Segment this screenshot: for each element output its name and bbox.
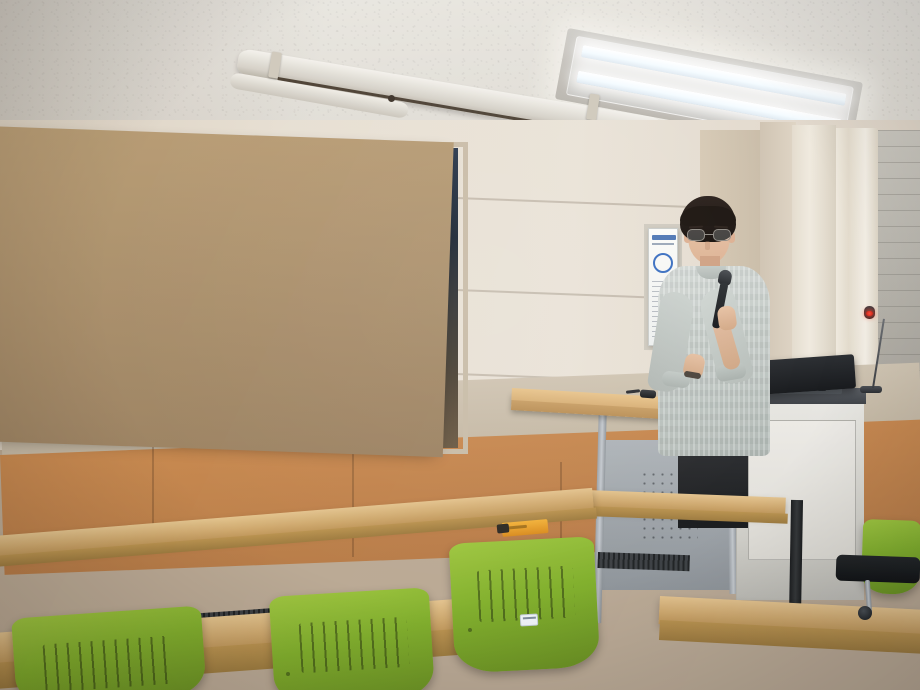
chair-1-vent-slots (42, 636, 175, 690)
glasses-lens-left (687, 229, 705, 241)
presenter (656, 196, 776, 526)
glasses-lens-right (713, 229, 731, 241)
chair-4-seat[interactable] (836, 555, 920, 584)
rail-knob-1 (388, 95, 395, 102)
presenter-hair-fringe (680, 206, 736, 226)
desk-right-leg (789, 500, 803, 618)
car-key-fob (640, 389, 657, 398)
glasses-icon (686, 229, 733, 241)
wood-panel-seam-2 (352, 452, 354, 557)
chair-4-caster (858, 606, 872, 620)
desk-book-tray-right (597, 552, 690, 571)
chair-2-vent-slots (299, 617, 410, 674)
presenter-nose (705, 241, 710, 250)
chair-3-label (520, 614, 539, 627)
mic-status-led-icon (866, 311, 873, 316)
display-wall-recess (0, 126, 454, 457)
classroom-photo-scene: 진로선택 세무사와 공인회계사 최종본 - PowerPoint 파일 디자인 … (0, 0, 920, 690)
desk-sticker-clip (497, 523, 510, 533)
